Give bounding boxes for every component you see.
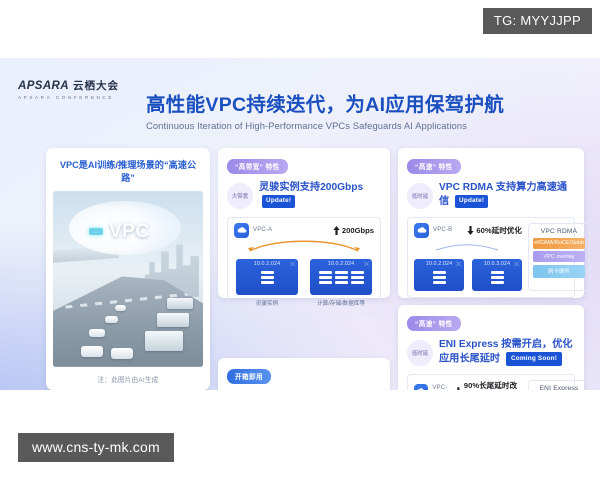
card-metric-text: 90%长尾延时改善 (464, 380, 522, 390)
network-icon: ⤬ (364, 262, 369, 269)
feature-card-eni-express[interactable]: “高速” 特性 低时延 ENI Express 按需开启，优化应用长尾延时 Co… (398, 305, 584, 390)
card-badge-icon: 低时延 (407, 183, 433, 209)
feature-card-bandwidth[interactable]: “高带宽” 特性 大带宽 灵骏实例支持200Gbps Update! VPC-A… (218, 148, 390, 298)
vpc-label: VPC-B (433, 227, 452, 233)
card-metric: 90%长尾延时改善 (455, 380, 522, 390)
card-tag: “高速” 特性 (407, 316, 461, 331)
vehicle-icon (81, 346, 103, 357)
stack-layer: VPC overlay (533, 251, 585, 262)
vpc-cloud-icon (414, 223, 429, 238)
stack-layer: eRDMA/RoCE/Solar-... (533, 238, 585, 249)
card-tag: 开箱即用 (227, 369, 271, 384)
network-icon: ⤬ (290, 262, 295, 269)
logo-apsara-text: APSARA (18, 80, 69, 92)
node-box-right: 10.0.3.024 ⤬ (472, 259, 522, 291)
card-diagram: VPC-C 90%长尾延时改善 10.0.2.024 ⤬ (407, 374, 575, 390)
vpc-label: VPC-C (432, 385, 451, 390)
arrow-down-icon (455, 387, 462, 390)
vehicle-icon (89, 329, 105, 337)
server-stack-icon (433, 271, 446, 284)
card-metric: 60%延时优化 (467, 225, 522, 236)
update-chip: Update! (455, 195, 488, 208)
node-box-left: 10.0.2.024 ⤬ (236, 259, 298, 295)
vehicle-icon (115, 305, 126, 311)
card-diagram: VPC-A 200Gbps 10.0.2.024 ⤬ (227, 217, 381, 314)
card-tag: “高速” 特性 (407, 159, 461, 174)
truck-icon (157, 313, 189, 327)
truck-icon (145, 331, 183, 351)
server-stack-icon (491, 271, 504, 284)
compute-icon (319, 271, 332, 284)
panel-title: VPC RDMA (533, 228, 585, 235)
eni-stack-panel: ENI Express 多网卡/可靠传输/拥塞/负载 VPC overlay 网… (528, 380, 590, 390)
card-badge-icon: 低时延 (407, 340, 433, 366)
logo-subtitle: APSARA CONFERENCE (18, 95, 119, 100)
network-icon: ⤬ (514, 262, 519, 269)
node-label-right: 计算/存储/数据库等 (310, 299, 372, 307)
update-chip: Update! (262, 195, 295, 208)
truck-icon (167, 298, 193, 309)
page-title: 高性能VPC持续迭代，为AI应用保驾护航 (146, 94, 586, 116)
node-box-right: 10.0.2.024 ⤬ (310, 259, 372, 295)
chip-glow-icon (89, 228, 103, 235)
vpc-highway-card: VPC是AI训练/推理场景的“高速公路” VPC 注：此图片由AI生成 (46, 148, 210, 390)
card-metric: 200Gbps (333, 226, 374, 235)
card-diagram: VPC-B 60%延时优化 10.0.2.024 ⤬ (407, 217, 575, 298)
slide-title-block: 高性能VPC持续迭代，为AI应用保驾护航 Continuous Iteratio… (146, 94, 586, 131)
server-stack-icon (261, 271, 274, 284)
card-metric-text: 200Gbps (342, 226, 374, 235)
vpc-cloud-icon (234, 223, 249, 238)
vpc-highway-title: VPC是AI训练/推理场景的“高速公路” (53, 159, 203, 186)
page-subtitle: Continuous Iteration of High-Performance… (146, 120, 586, 131)
ai-generated-highway-image: VPC (53, 191, 203, 367)
presentation-slide: APSARA 云栖大会 APSARA CONFERENCE 高性能VPC持续迭代… (0, 58, 600, 390)
vehicle-icon (111, 348, 133, 359)
connection-curve (414, 238, 522, 252)
vpc-cloud-icon (414, 384, 428, 390)
card-title-text: 灵骏实例支持200Gbps (259, 182, 363, 193)
logo-chinese-text: 云栖大会 (73, 78, 119, 93)
vehicle-icon (105, 316, 118, 323)
image-caption: 注：此图片由AI生成 (53, 374, 203, 384)
node-ip: 10.0.2.024 (236, 261, 298, 267)
coming-soon-chip: Coming Soon! (506, 352, 562, 366)
stack-layer: 网卡硬件 (533, 265, 585, 278)
tg-watermark-badge: TG: MYYJJPP (483, 8, 592, 34)
card-tag: “高带宽” 特性 (227, 159, 288, 174)
feature-card-standard-network[interactable]: 开箱即用 标准 灵骏实例ENI支持IPv6/LB挂载/EIP绑定等标准网络特性 … (218, 358, 390, 390)
panel-title: ENI Express (533, 385, 585, 390)
connection-curve (234, 238, 374, 252)
card-title: ENI Express 按需开启，优化应用长尾延时 Coming Soon! (439, 338, 575, 367)
arrow-up-icon (333, 226, 340, 235)
card-badge-icon: 大带宽 (227, 183, 253, 209)
card-title: 灵骏实例支持200Gbps Update! (259, 181, 381, 210)
arrow-down-icon (467, 226, 474, 235)
card-metric-text: 60%延时优化 (476, 225, 522, 236)
rdma-stack-panel: VPC RDMA eRDMA/RoCE/Solar-... VPC overla… (528, 223, 590, 291)
database-icon (351, 271, 364, 284)
feature-card-vpc-rdma[interactable]: “高速” 特性 低时延 VPC RDMA 支持算力高速通信 Update! VP… (398, 148, 584, 298)
node-box-left: 10.0.2.024 ⤬ (414, 259, 464, 291)
network-icon: ⤬ (456, 262, 461, 269)
node-ip: 10.0.2.024 (310, 261, 372, 267)
vpc-image-word: VPC (109, 221, 150, 243)
apsara-logo: APSARA 云栖大会 APSARA CONFERENCE (18, 78, 119, 100)
storage-icon (335, 271, 348, 284)
node-label-left: 灵骏实例 (236, 299, 298, 307)
vpc-label: VPC-A (253, 227, 272, 233)
site-watermark-badge: www.cns-ty-mk.com (18, 433, 174, 462)
card-title: VPC RDMA 支持算力高速通信 Update! (439, 181, 575, 210)
